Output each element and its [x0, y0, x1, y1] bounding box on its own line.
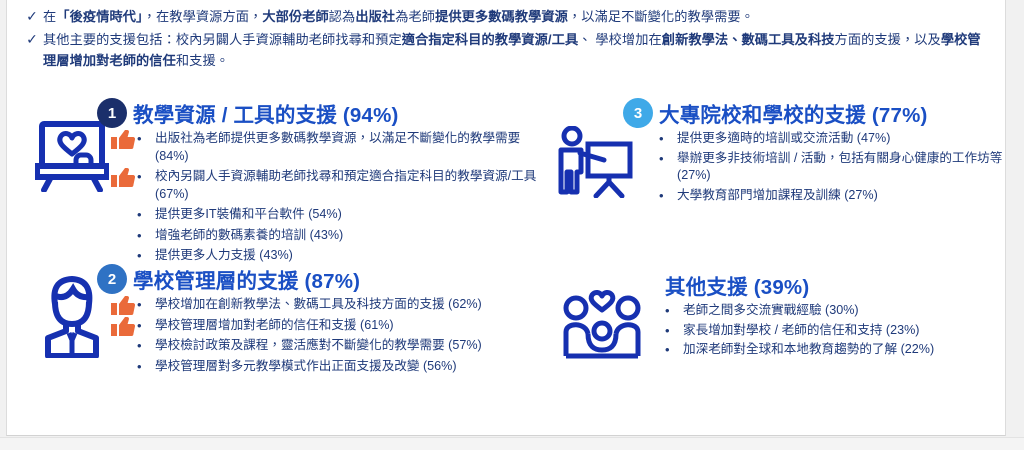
- list-item: • 學校檢討政策及課程，靈活應對不斷變化的教學需要 (57%): [115, 337, 549, 355]
- item-text: 校內另闢人手資源輔助老師找尋和預定適合指定科目的教學資源/工具 (67%): [155, 169, 536, 201]
- section-title-row: 3 大專院校和學校的支援 (77%): [623, 98, 1006, 128]
- section-item-list: • 老師之間多交流實戰經驗 (30%) • 家長增加對學校 / 老師的信任和支持…: [645, 302, 1006, 359]
- item-text: 學校管理層對多元教學模式作出正面支援及改變 (56%): [155, 359, 457, 373]
- below-slide-strip: [0, 437, 1024, 450]
- bullet-dot: •: [137, 130, 142, 148]
- item-text: 增強老師的數碼素養的培訓 (43%): [155, 228, 343, 242]
- item-text: 提供更多人力支援 (43%): [155, 248, 293, 262]
- section-school-management: 2 學校管理層的支援 (87%) • 學校增加在創新教學法、數碼工具及科技方面的…: [29, 264, 549, 378]
- section-item-list: • 提供更多適時的培訓或交流活動 (47%) • 舉辦更多非技術培訓 / 活動，…: [639, 130, 1006, 204]
- section-badge: 1: [97, 98, 127, 128]
- bullet-dot: •: [137, 317, 142, 335]
- section-body: 2 學校管理層的支援 (87%) • 學校增加在創新教學法、數碼工具及科技方面的…: [115, 264, 549, 378]
- bullet-dot: •: [137, 296, 142, 314]
- section-tertiary-institutions: 3 大專院校和學校的支援 (77%) • 提供更多適時的培訓或交流活動 (47%…: [553, 98, 1006, 206]
- slide-canvas: ✓ 在「後疫情時代」，在教學資源方面，大部份老師認為出版社為老師提供更多數碼教學…: [6, 0, 1006, 436]
- header-bullet-row: ✓ 在「後疫情時代」，在教學資源方面，大部份老師認為出版社為老師提供更多數碼教學…: [21, 6, 993, 27]
- list-item: • 大學教育部門增加課程及訓練 (27%): [639, 187, 1006, 205]
- item-text: 學校管理層增加對老師的信任和支援 (61%): [155, 318, 394, 332]
- item-text: 學校增加在創新教學法、數碼工具及科技方面的支援 (62%): [155, 297, 482, 311]
- bullet-dot: •: [137, 358, 142, 376]
- section-title-row: 1 教學資源 / 工具的支援 (94%): [97, 98, 539, 128]
- item-text: 舉辦更多非技術培訓 / 活動，包括有關身心健康的工作坊等 (27%): [677, 151, 1002, 183]
- header-bullet-1: 在「後疫情時代」，在教學資源方面，大部份老師認為出版社為老師提供更多數碼教學資源…: [43, 6, 993, 27]
- list-item: • 提供更多人力支援 (43%): [115, 247, 539, 265]
- section-badge: 2: [97, 264, 127, 294]
- list-item: • 增強老師的數碼素養的培訓 (43%): [115, 227, 539, 245]
- thumbs-up-icon: [111, 317, 135, 337]
- section-other-support: 其他支援 (39%) • 老師之間多交流實戰經驗 (30%) • 家長增加對學校…: [559, 270, 1006, 361]
- list-item: • 老師之間多交流實戰經驗 (30%): [645, 302, 1006, 320]
- thumbs-up-icon: [111, 296, 135, 316]
- bullet-dot: •: [137, 206, 142, 224]
- bullet-dot: •: [137, 168, 142, 186]
- item-text: 提供更多適時的培訓或交流活動 (47%): [677, 131, 890, 145]
- list-item: • 加深老師對全球和本地教育趨勢的了解 (22%): [645, 341, 1006, 359]
- item-text: 家長增加對學校 / 老師的信任和支持 (23%): [683, 323, 920, 337]
- section-title: 教學資源 / 工具的支援 (94%): [133, 98, 399, 128]
- section-title-row: 其他支援 (39%): [629, 270, 1006, 300]
- bullet-dot: •: [659, 187, 664, 205]
- thumbs-up-icon: [111, 130, 135, 150]
- item-text: 提供更多IT裝備和平台軟件 (54%): [155, 207, 342, 221]
- list-item: • 校內另闢人手資源輔助老師找尋和預定適合指定科目的教學資源/工具 (67%): [115, 168, 539, 203]
- thumbs-up-icon: [111, 168, 135, 188]
- item-text: 大學教育部門增加課程及訓練 (27%): [677, 188, 878, 202]
- bullet-dot: •: [137, 227, 142, 245]
- header-bullet-row: ✓ 其他主要的支援包括：校內另闢人手資源輔助老師找尋和預定適合指定科目的教學資源…: [21, 29, 993, 71]
- section-teaching-resources: 1 教學資源 / 工具的支援 (94%) • 出版社為老師提供更多數碼教學資源，…: [29, 98, 539, 268]
- bullet-dot: •: [137, 337, 142, 355]
- section-body: 其他支援 (39%) • 老師之間多交流實戰經驗 (30%) • 家長增加對學校…: [645, 270, 1006, 361]
- bullet-dot: •: [665, 302, 670, 320]
- list-item: • 學校管理層對多元教學模式作出正面支援及改變 (56%): [115, 358, 549, 376]
- list-item: • 出版社為老師提供更多數碼教學資源，以滿足不斷變化的教學需要 (84%): [115, 130, 539, 165]
- section-title: 其他支援 (39%): [665, 270, 809, 300]
- list-item: • 學校增加在創新教學法、數碼工具及科技方面的支援 (62%): [115, 296, 549, 314]
- item-text: 加深老師對全球和本地教育趨勢的了解 (22%): [683, 342, 934, 356]
- bullet-dot: •: [665, 341, 670, 359]
- section-item-list: • 出版社為老師提供更多數碼教學資源，以滿足不斷變化的教學需要 (84%) • …: [115, 130, 539, 265]
- item-text: 老師之間多交流實戰經驗 (30%): [683, 303, 859, 317]
- item-text: 出版社為老師提供更多數碼教學資源，以滿足不斷變化的教學需要 (84%): [155, 131, 520, 163]
- header-bullets: ✓ 在「後疫情時代」，在教學資源方面，大部份老師認為出版社為老師提供更多數碼教學…: [21, 6, 993, 73]
- list-item: • 舉辦更多非技術培訓 / 活動，包括有關身心健康的工作坊等 (27%): [639, 150, 1006, 185]
- sections-grid: 1 教學資源 / 工具的支援 (94%) • 出版社為老師提供更多數碼教學資源，…: [7, 92, 1006, 436]
- section-item-list: • 學校增加在創新教學法、數碼工具及科技方面的支援 (62%) • 學校管理層增…: [115, 296, 549, 375]
- check-icon: ✓: [21, 29, 43, 50]
- check-icon: ✓: [21, 6, 43, 27]
- header-bullet-2: 其他主要的支援包括：校內另闢人手資源輔助老師找尋和預定適合指定科目的教學資源/工…: [43, 29, 993, 71]
- list-item: • 提供更多適時的培訓或交流活動 (47%): [639, 130, 1006, 148]
- bullet-dot: •: [665, 322, 670, 340]
- list-item: • 學校管理層增加對老師的信任和支援 (61%): [115, 317, 549, 335]
- section-title: 學校管理層的支援 (87%): [133, 264, 360, 294]
- badge-placeholder: [629, 270, 659, 300]
- list-item: • 提供更多IT裝備和平台軟件 (54%): [115, 206, 539, 224]
- section-body: 1 教學資源 / 工具的支援 (94%) • 出版社為老師提供更多數碼教學資源，…: [115, 98, 539, 268]
- section-body: 3 大專院校和學校的支援 (77%) • 提供更多適時的培訓或交流活動 (47%…: [639, 98, 1006, 206]
- list-item: • 家長增加對學校 / 老師的信任和支持 (23%): [645, 322, 1006, 340]
- bullet-dot: •: [659, 130, 664, 148]
- bullet-dot: •: [137, 247, 142, 265]
- section-title: 大專院校和學校的支援 (77%): [659, 98, 928, 128]
- item-text: 學校檢討政策及課程，靈活應對不斷變化的教學需要 (57%): [155, 338, 482, 352]
- section-badge: 3: [623, 98, 653, 128]
- bullet-dot: •: [659, 150, 664, 168]
- section-title-row: 2 學校管理層的支援 (87%): [97, 264, 549, 294]
